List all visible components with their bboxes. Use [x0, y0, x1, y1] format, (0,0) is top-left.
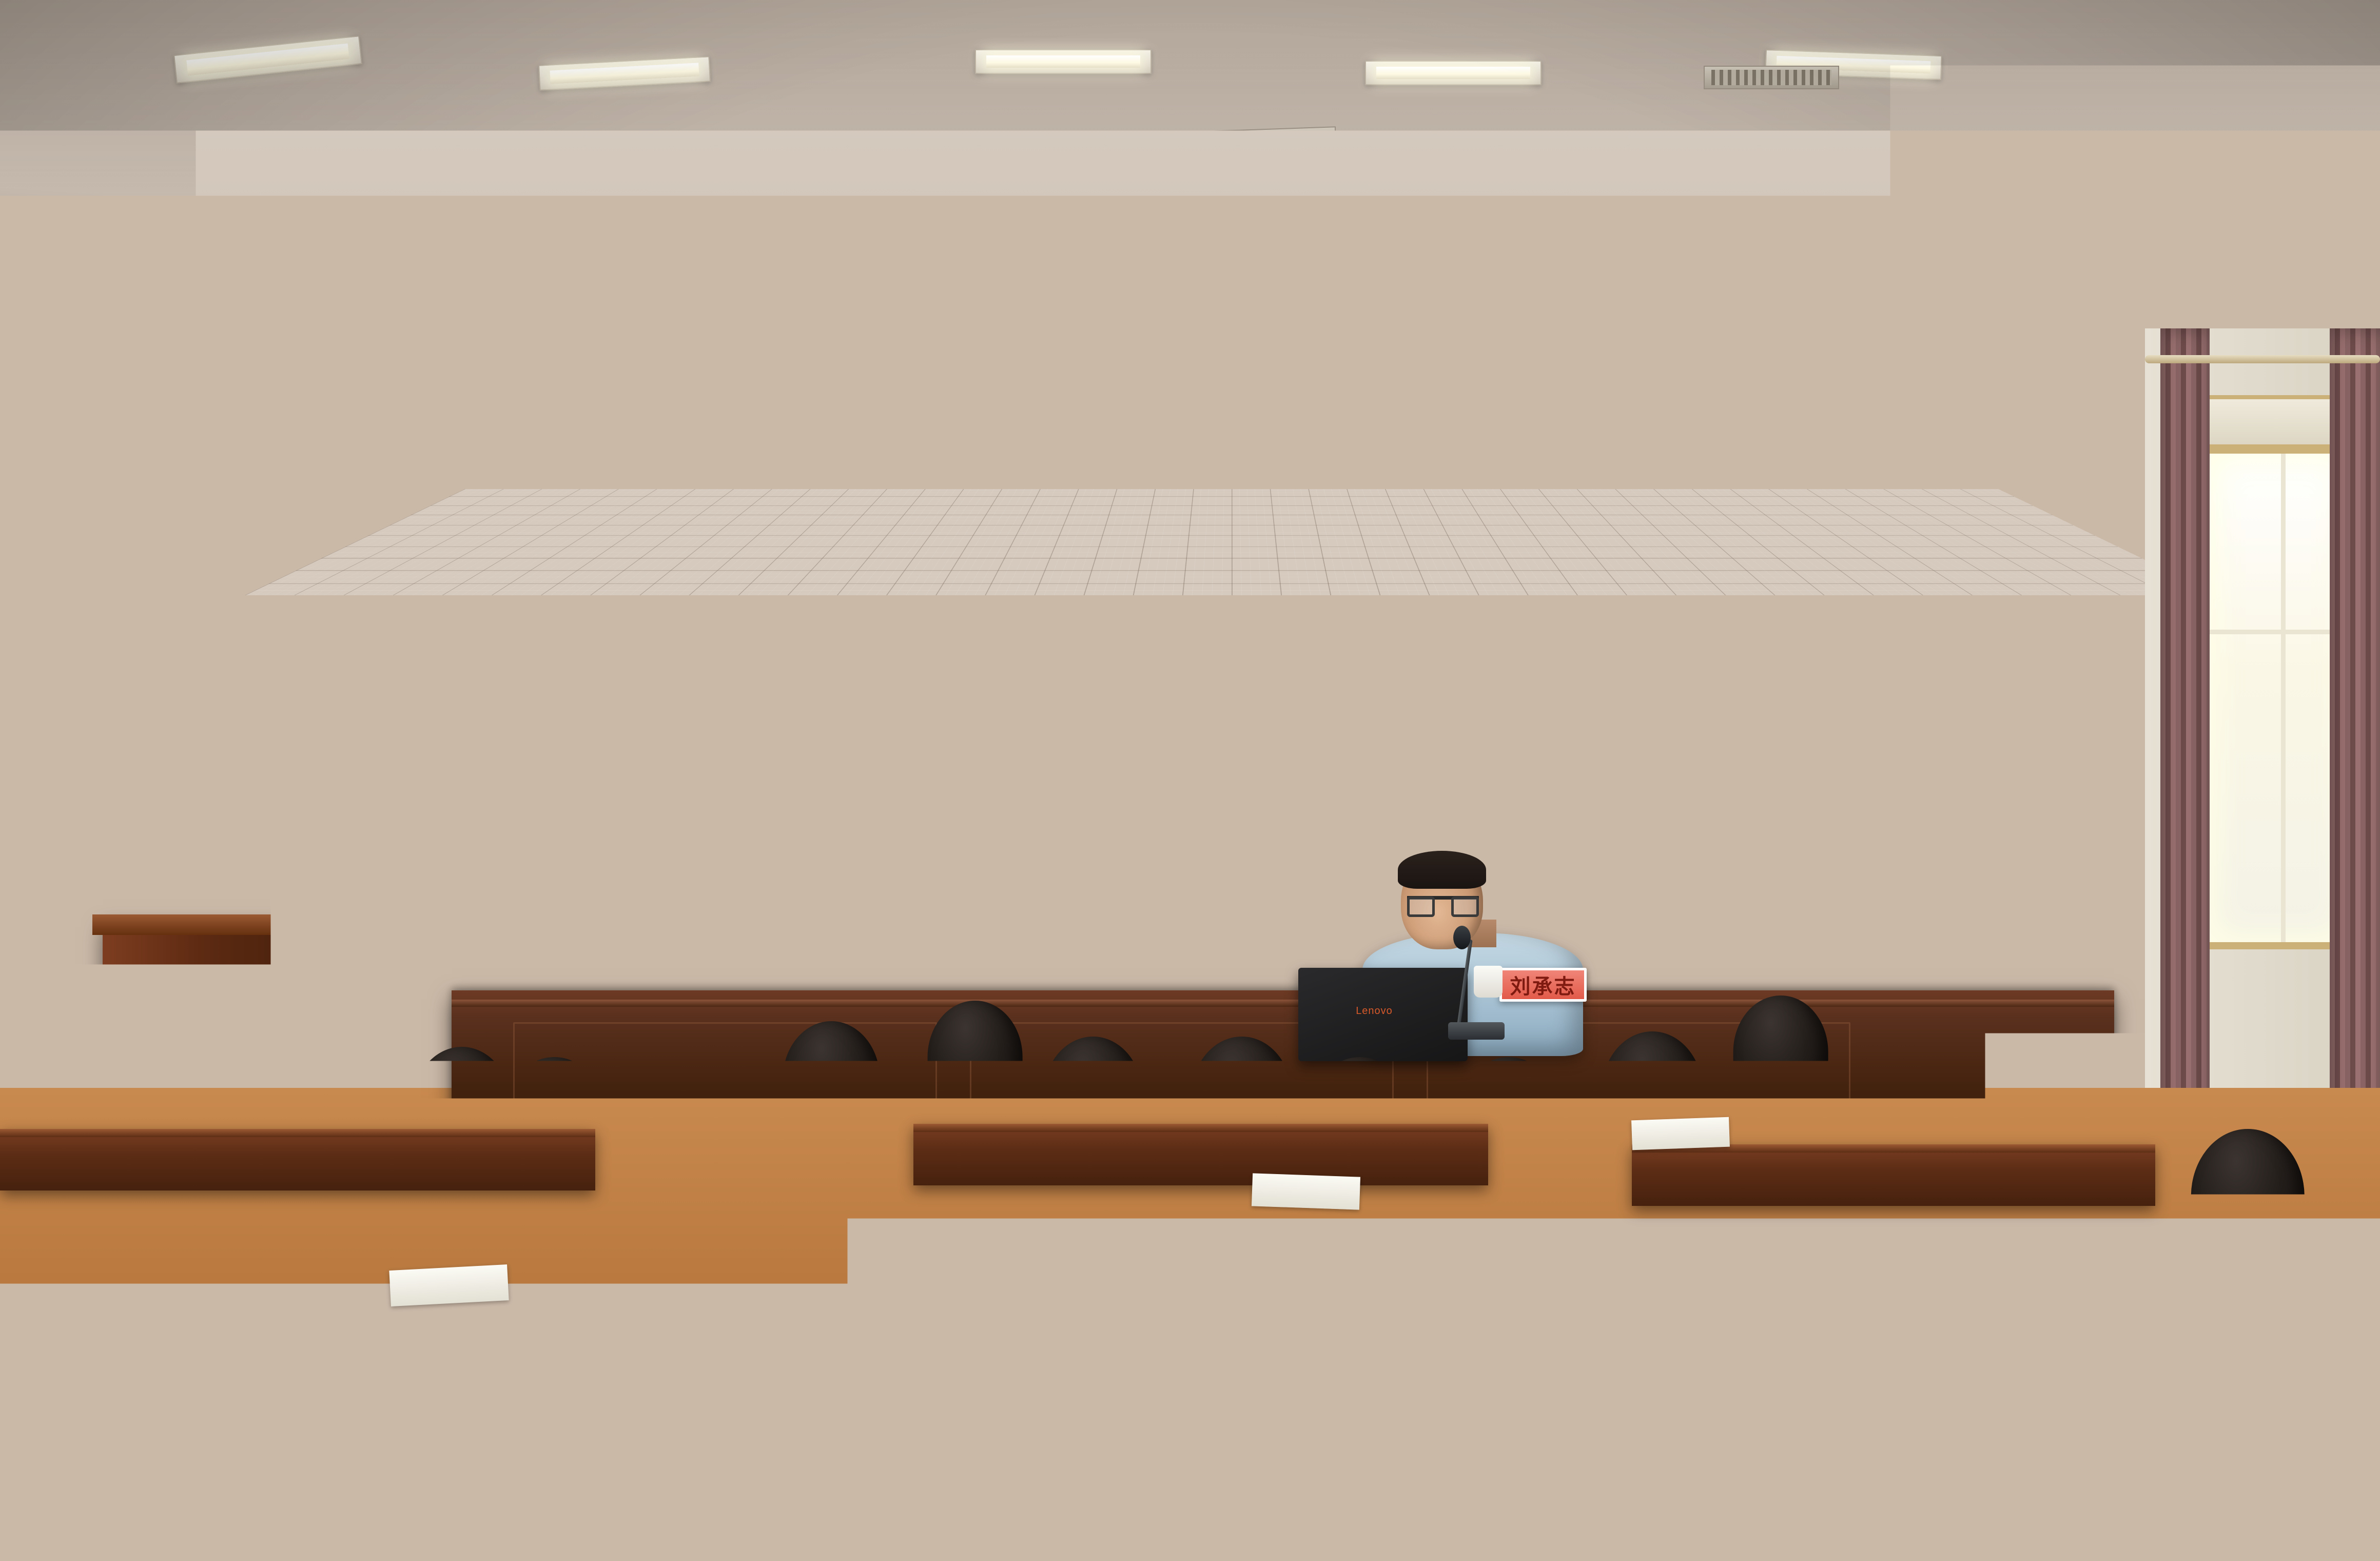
slide-subtitle: 一在优秀青年干部复合能力训练营上 — [30, 273, 483, 337]
audience-head — [820, 1283, 945, 1432]
ceiling-light-4 — [1365, 61, 1542, 85]
speaker-glasses — [1407, 896, 1479, 907]
ear — [500, 1128, 511, 1153]
audience-head — [1927, 1293, 2055, 1445]
audience-head — [1629, 1314, 1758, 1468]
slide-content: 一在优秀青年干部复合能力训练营上 谈谈管理者的素养 刘承志 2017年5月 — [0, 220, 804, 987]
laptop-brand-label: Lenovo — [1356, 1005, 1393, 1017]
ear — [1188, 1106, 1199, 1130]
water-cup[interactable] — [1474, 966, 1503, 998]
ceiling-light-7 — [1452, 198, 1624, 223]
audience-head — [1098, 1262, 1221, 1409]
audience-head — [2191, 1129, 2305, 1264]
audience-head — [1363, 1293, 1490, 1445]
audience-member — [196, 1267, 523, 1561]
audience-head — [576, 1242, 696, 1386]
ear — [1480, 1381, 1494, 1411]
microphone-base — [1448, 1022, 1505, 1040]
ear — [2303, 1435, 2317, 1467]
ear — [1625, 1403, 1639, 1434]
ear — [146, 1391, 160, 1421]
name-plate: 刘承志 — [1499, 968, 1587, 1002]
ear — [294, 1352, 307, 1381]
ear — [2295, 1207, 2308, 1234]
ear — [925, 1066, 935, 1089]
ear — [572, 1325, 586, 1354]
left-wood-column-cap — [92, 914, 334, 935]
ear — [411, 1352, 424, 1381]
ear — [816, 1369, 830, 1399]
banner-text: 徐圩投资公司青年干部复合能力训练营开营仪式 — [822, 718, 1899, 785]
audience-member — [1521, 1314, 1866, 1561]
ear — [1359, 1381, 1373, 1411]
audience-head — [298, 1267, 420, 1414]
audience-member — [2072, 1344, 2380, 1561]
ear — [2027, 1109, 2039, 1135]
audience-head — [232, 1088, 342, 1219]
ear — [2044, 1381, 2058, 1411]
audience-head — [2182, 1344, 2313, 1501]
ear — [1748, 1403, 1762, 1434]
speaker-hair — [1398, 851, 1486, 889]
side-chair-r3[interactable] — [2332, 903, 2380, 1129]
conference-hall-photo: 徐圩投资公司青年干部复合能力训练营开营仪式 投影幕 — [0, 0, 2380, 1561]
ear — [1598, 1101, 1610, 1125]
ear — [664, 1133, 675, 1158]
ear — [1871, 1148, 1883, 1175]
audience-head — [29, 1303, 156, 1455]
speaker: Lenovo — [1314, 842, 1632, 1047]
ceiling-vent-3 — [1432, 274, 1577, 299]
ear — [780, 1088, 791, 1111]
side-chair-r2[interactable] — [2248, 908, 2345, 1129]
ear — [1041, 1105, 1051, 1128]
ceiling-vent-1 — [1164, 126, 1337, 161]
ear — [1305, 1128, 1316, 1153]
ear — [935, 1369, 949, 1399]
ceiling-vent-2 — [1704, 66, 1839, 89]
microphone-head — [1453, 926, 1471, 949]
curtain-rod — [2145, 355, 2380, 363]
ear — [1095, 1347, 1108, 1376]
ear — [1924, 1381, 1938, 1411]
ear — [1730, 1061, 1741, 1084]
projection-screen: 一在优秀青年干部复合能力训练营上 谈谈管理者的素养 刘承志 2017年5月 — [0, 205, 818, 1002]
ear — [2188, 1207, 2200, 1234]
ceiling-light-10 — [1119, 328, 1275, 351]
ear — [687, 1325, 700, 1354]
window-glass — [2209, 454, 2348, 942]
ear — [112, 1193, 124, 1219]
ear — [229, 1164, 241, 1190]
ear — [1453, 1130, 1465, 1155]
ear — [25, 1391, 39, 1421]
ear — [1212, 1347, 1225, 1376]
ear — [2178, 1435, 2192, 1467]
ceiling-light-6 — [1057, 190, 1228, 214]
ceiling-light-3 — [975, 49, 1152, 74]
